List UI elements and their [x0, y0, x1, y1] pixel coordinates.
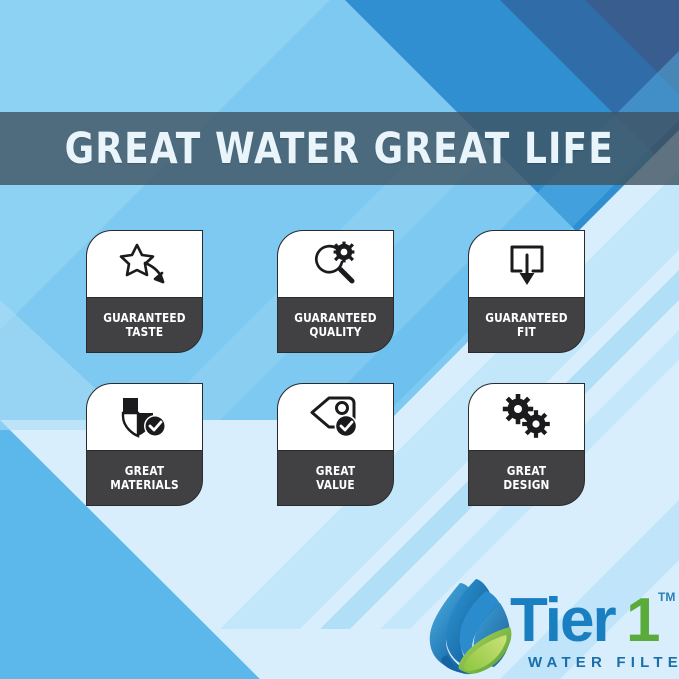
price-tag-check-icon: [278, 384, 393, 451]
badge-great-design[interactable]: GREAT DESIGN: [468, 383, 585, 506]
badge-great-materials[interactable]: GREAT MATERIALS: [86, 383, 203, 506]
trademark-text: TM: [658, 590, 675, 604]
badge-label: GUARANTEED TASTE: [90, 298, 198, 352]
badge-label: GUARANTEED QUALITY: [281, 298, 389, 352]
brand-numeral-text: 1: [626, 586, 659, 655]
badge-guaranteed-taste[interactable]: GUARANTEED TASTE: [86, 230, 203, 353]
badge-label-line1: GUARANTEED: [103, 311, 186, 325]
badge-label-line2: QUALITY: [309, 325, 361, 339]
badge-label-line2: VALUE: [316, 478, 355, 492]
badge-label: GREAT VALUE: [281, 451, 389, 505]
badge-label-line2: FIT: [517, 325, 536, 339]
badge-guaranteed-quality[interactable]: GUARANTEED QUALITY: [277, 230, 394, 353]
shield-check-icon: [87, 384, 202, 451]
water-drop-leaf-icon: [424, 575, 516, 675]
badge-label-line2: DESIGN: [503, 478, 549, 492]
badge-label-line2: MATERIALS: [110, 478, 179, 492]
brand-logo[interactable]: Tier 1 TM WATER FILTERS: [424, 575, 674, 675]
gears-icon: [469, 384, 584, 451]
badge-label: GREAT MATERIALS: [90, 451, 198, 505]
badge-label-line2: TASTE: [126, 325, 163, 339]
install-arrow-icon: [469, 231, 584, 298]
badge-great-value[interactable]: GREAT VALUE: [277, 383, 394, 506]
brand-wordmark: Tier 1 TM WATER FILTERS: [508, 579, 679, 675]
badge-guaranteed-fit[interactable]: GUARANTEED FIT: [468, 230, 585, 353]
tagline-text: WATER FILTERS: [528, 654, 679, 671]
poster-canvas: GREAT WATER GREAT LIFE GUARANTEED TASTE: [0, 0, 679, 679]
badge-label: GUARANTEED FIT: [472, 298, 580, 352]
badge-label-line1: GREAT: [125, 464, 164, 478]
brand-primary-text: Tier: [510, 586, 616, 655]
badge-label-line1: GREAT: [316, 464, 355, 478]
badge-label-line1: GUARANTEED: [485, 311, 568, 325]
shooting-star-icon: [87, 231, 202, 298]
badge-label-line1: GUARANTEED: [294, 311, 377, 325]
badge-label-line1: GREAT: [507, 464, 546, 478]
magnifier-gear-icon: [278, 231, 393, 298]
badge-label: GREAT DESIGN: [472, 451, 580, 505]
